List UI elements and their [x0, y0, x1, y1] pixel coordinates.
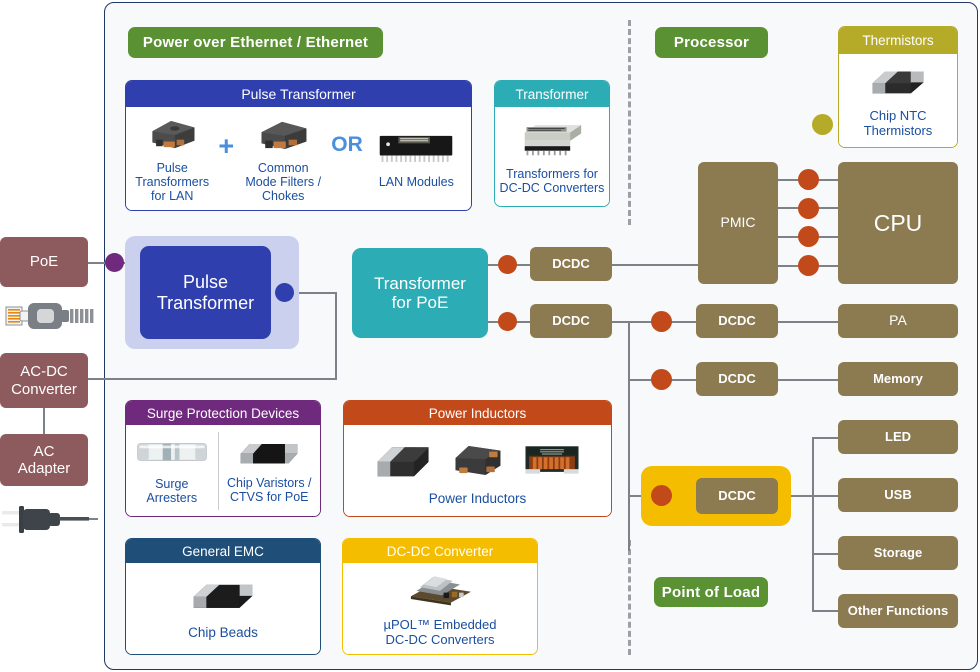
card-general-emc-header: General EMC	[126, 539, 320, 563]
section-pill-point-of-load-label: Point of Load	[662, 584, 760, 601]
card-surge-protection-body: Surge Arresters Chip Varistors / CTVS fo…	[126, 425, 320, 516]
block-other-functions[interactable]: Other Functions	[838, 594, 958, 628]
section-pill-processor-label: Processor	[674, 34, 749, 51]
block-led[interactable]: LED	[838, 420, 958, 454]
block-dcdc-memory[interactable]: DCDC	[696, 362, 778, 396]
product-chip-beads[interactable]: Chip Beads	[188, 576, 258, 640]
card-power-inductors-body: Power Inductors	[344, 425, 611, 516]
block-dcdc-memory-label: DCDC	[718, 372, 756, 387]
card-dcdc-converter-body: µPOL™ Embedded DC-DC Converters	[343, 563, 537, 654]
product-chip-ntc-thermistors-label: Chip NTC Thermistors	[864, 109, 933, 138]
block-poe[interactable]: PoE	[0, 237, 88, 287]
block-transformer-for-poe[interactable]: Transformer for PoE	[352, 248, 488, 338]
section-divider-dashed-lower	[628, 540, 631, 655]
block-memory-label: Memory	[873, 372, 923, 387]
card-pulse-transformer[interactable]: Pulse Transformer Pulse Transformers for…	[125, 80, 472, 211]
dcdc-transformer-icon	[517, 118, 587, 163]
line-dcdcmem-to-memory	[778, 379, 838, 381]
ac-power-plug-icon	[2, 498, 98, 540]
card-pulse-transformer-title: Pulse Transformer	[241, 86, 355, 102]
section-divider-dashed	[628, 20, 631, 225]
common-mode-choke-icon	[254, 116, 312, 159]
card-dcdc-converter-header: DC-DC Converter	[343, 539, 537, 563]
card-general-emc-title: General EMC	[182, 544, 264, 559]
block-dcdc-pa-label: DCDC	[718, 314, 756, 329]
block-cpu-label: CPU	[874, 210, 923, 236]
line-fanout-to-led	[812, 437, 838, 439]
product-surge-arresters-label: Surge Arresters	[146, 477, 197, 505]
card-thermistors-body: Chip NTC Thermistors	[839, 54, 957, 147]
block-transformer-for-poe-label: Transformer for PoE	[374, 274, 466, 313]
card-power-inductors-header: Power Inductors	[344, 401, 611, 425]
connector-dot-pol	[651, 485, 672, 506]
block-poe-label: PoE	[30, 253, 58, 270]
card-dcdc-converter[interactable]: DC-DC Converter µPOL™ Embedded DC-DC Con…	[342, 538, 538, 655]
product-chip-varistors-ctvs-label: Chip Varistors / CTVS for PoE	[227, 476, 312, 504]
connector-dot-poe-purple	[105, 253, 124, 272]
section-pill-poe-ethernet-label: Power over Ethernet / Ethernet	[143, 34, 368, 51]
connector-dot-thermistor	[812, 114, 833, 135]
connector-dot-pa-branch	[651, 311, 672, 332]
block-pa-label: PA	[889, 313, 907, 329]
block-pulse-transformer[interactable]: Pulse Transformer	[140, 246, 271, 339]
line-fanout-to-other	[812, 610, 838, 612]
operator-plus: +	[212, 131, 240, 188]
connector-dot-pmic-cpu-2	[798, 198, 819, 219]
card-transformer-header: Transformer	[495, 81, 609, 107]
chip-varistor-icon	[234, 437, 304, 472]
block-pmic[interactable]: PMIC	[698, 162, 778, 284]
block-pmic-label: PMIC	[721, 215, 756, 231]
block-cpu[interactable]: CPU	[838, 162, 958, 284]
line-fanout-to-storage	[812, 553, 838, 555]
card-general-emc-body: Chip Beads	[126, 563, 320, 654]
block-ac-adapter[interactable]: AC Adapter	[0, 434, 88, 486]
block-dcdc-1-label: DCDC	[552, 257, 590, 272]
product-upol-embedded-dcdc[interactable]: µPOL™ Embedded DC-DC Converters	[384, 569, 497, 647]
block-storage-label: Storage	[874, 546, 922, 561]
card-transformer-body: Transformers for DC-DC Converters	[495, 107, 609, 206]
line-fanout-to-usb	[812, 495, 838, 497]
block-dcdc-2-label: DCDC	[552, 314, 590, 329]
connector-dot-dcdc2	[498, 312, 517, 331]
line-acdc-to-acadapter	[43, 408, 45, 434]
wirewound-power-inductor-icon	[520, 439, 584, 486]
line-acdc-right	[88, 378, 335, 380]
product-power-inductors-label: Power Inductors	[429, 491, 527, 506]
product-chip-ntc-thermistors[interactable]: Chip NTC Thermistors	[864, 63, 933, 138]
product-lan-modules[interactable]: LAN Modules	[368, 130, 465, 189]
card-divider	[218, 432, 219, 510]
connector-dot-pmic-cpu-3	[798, 226, 819, 247]
power-inductor-icon-row	[372, 439, 584, 486]
card-surge-protection-title: Surge Protection Devices	[147, 406, 299, 421]
product-pulse-transformers-for-lan[interactable]: Pulse Transformers for LAN	[132, 116, 212, 203]
block-ac-adapter-label: AC Adapter	[18, 443, 71, 477]
product-common-mode-filters-chokes-label: Common Mode Filters / Chokes	[245, 161, 321, 203]
connector-dot-pulse-blue	[275, 283, 294, 302]
rj45-ethernet-connector-icon	[4, 297, 96, 335]
chip-bead-icon	[188, 576, 258, 619]
fanout-vertical-bus	[812, 437, 814, 611]
connector-dot-pmic-cpu-1	[798, 169, 819, 190]
product-common-mode-filters-chokes[interactable]: Common Mode Filters / Chokes	[240, 116, 326, 203]
block-ac-dc-converter-label: AC-DC Converter	[11, 363, 77, 397]
product-surge-arresters[interactable]: Surge Arresters	[128, 436, 216, 505]
line-dcdc1-to-pmic	[612, 264, 698, 266]
product-pulse-transformers-for-lan-label: Pulse Transformers for LAN	[135, 161, 209, 203]
block-ac-dc-converter[interactable]: AC-DC Converter	[0, 353, 88, 408]
card-thermistors-header: Thermistors	[839, 27, 957, 54]
card-power-inductors[interactable]: Power Inductors	[343, 400, 612, 517]
card-pulse-transformer-header: Pulse Transformer	[126, 81, 471, 107]
power-inductor-icon	[372, 439, 434, 486]
block-dcdc-pol[interactable]: DCDC	[696, 478, 778, 514]
block-dcdc-2[interactable]: DCDC	[530, 304, 612, 338]
block-usb[interactable]: USB	[838, 478, 958, 512]
block-pulse-transformer-label: Pulse Transformer	[157, 272, 254, 313]
card-general-emc[interactable]: General EMC Chip Beads	[125, 538, 321, 655]
product-chip-varistors-ctvs[interactable]: Chip Varistors / CTVS for PoE	[221, 437, 318, 504]
pulse-transformer-chip-icon	[143, 116, 201, 159]
block-other-functions-label: Other Functions	[848, 604, 948, 619]
product-transformers-for-dcdc-label: Transformers for DC-DC Converters	[500, 167, 605, 195]
card-dcdc-converter-title: DC-DC Converter	[387, 544, 494, 559]
block-dcdc-pol-label: DCDC	[718, 489, 756, 504]
block-usb-label: USB	[884, 488, 911, 503]
card-power-inductors-title: Power Inductors	[429, 406, 527, 421]
card-transformer-title: Transformer	[515, 87, 588, 102]
block-dcdc-1[interactable]: DCDC	[530, 247, 612, 281]
card-thermistors[interactable]: Thermistors Chip NTC Thermistors	[838, 26, 958, 148]
block-dcdc-pa[interactable]: DCDC	[696, 304, 778, 338]
line-dcdcpa-to-pa	[778, 321, 838, 323]
block-storage[interactable]: Storage	[838, 536, 958, 570]
section-pill-point-of-load[interactable]: Point of Load	[654, 577, 768, 607]
connector-dot-pmic-cpu-4	[798, 255, 819, 276]
block-pa[interactable]: PA	[838, 304, 958, 338]
block-memory[interactable]: Memory	[838, 362, 958, 396]
upol-module-icon	[403, 569, 477, 614]
product-transformers-for-dcdc[interactable]: Transformers for DC-DC Converters	[500, 118, 605, 195]
vertical-power-bus	[628, 321, 630, 551]
section-pill-poe-ethernet[interactable]: Power over Ethernet / Ethernet	[128, 27, 383, 58]
line-acdc-riser	[335, 292, 337, 380]
card-transformer[interactable]: Transformer	[494, 80, 610, 207]
card-surge-protection-header: Surge Protection Devices	[126, 401, 320, 425]
section-pill-processor[interactable]: Processor	[655, 27, 768, 58]
surge-arrester-icon	[132, 436, 212, 473]
connector-dot-dcdc1	[498, 255, 517, 274]
chip-ntc-thermistor-icon	[867, 63, 929, 105]
block-led-label: LED	[885, 430, 911, 445]
lan-module-ic-icon	[376, 130, 456, 171]
product-upol-embedded-dcdc-label: µPOL™ Embedded DC-DC Converters	[384, 618, 497, 647]
card-pulse-transformer-body: Pulse Transformers for LAN + Common Mode…	[126, 107, 471, 210]
card-surge-protection[interactable]: Surge Protection Devices Surge Arresters	[125, 400, 321, 517]
product-lan-modules-label: LAN Modules	[379, 175, 454, 189]
product-chip-beads-label: Chip Beads	[188, 625, 258, 640]
operator-or: OR	[326, 133, 368, 187]
shielded-power-inductor-icon	[448, 439, 506, 486]
connector-dot-memory-branch	[651, 369, 672, 390]
card-thermistors-title: Thermistors	[862, 33, 933, 48]
